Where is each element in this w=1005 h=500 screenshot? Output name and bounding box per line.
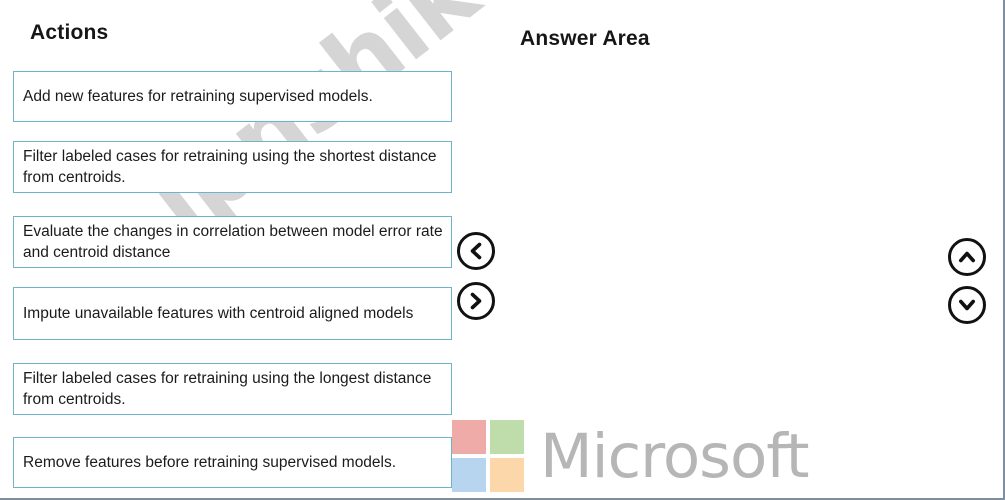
answer-area-dropzone[interactable] bbox=[500, 62, 930, 482]
chevron-left-icon bbox=[466, 241, 486, 261]
action-item[interactable]: Filter labeled cases for retraining usin… bbox=[13, 141, 452, 193]
tile-blue bbox=[452, 458, 486, 492]
chevron-right-icon bbox=[466, 291, 486, 311]
chevron-up-icon bbox=[957, 247, 977, 267]
action-item-label: Evaluate the changes in correlation betw… bbox=[23, 221, 443, 263]
action-item-label: Filter labeled cases for retraining usin… bbox=[23, 146, 443, 188]
action-item[interactable]: Impute unavailable features with centroi… bbox=[13, 287, 452, 340]
action-item-label: Filter labeled cases for retraining usin… bbox=[23, 368, 443, 410]
action-item[interactable]: Filter labeled cases for retraining usin… bbox=[13, 363, 452, 415]
action-item-label: Remove features before retraining superv… bbox=[23, 452, 396, 473]
actions-heading: Actions bbox=[30, 21, 108, 45]
chevron-down-icon bbox=[957, 295, 977, 315]
action-item-label: Impute unavailable features with centroi… bbox=[23, 303, 413, 324]
move-up-button[interactable] bbox=[948, 238, 986, 276]
tile-red bbox=[452, 420, 486, 454]
action-item[interactable]: Remove features before retraining superv… bbox=[13, 437, 452, 488]
action-item[interactable]: Add new features for retraining supervis… bbox=[13, 71, 452, 122]
action-item-label: Add new features for retraining supervis… bbox=[23, 86, 373, 107]
move-left-button[interactable] bbox=[457, 232, 495, 270]
answer-area-heading: Answer Area bbox=[520, 27, 650, 51]
action-item[interactable]: Evaluate the changes in correlation betw… bbox=[13, 216, 452, 268]
move-down-button[interactable] bbox=[948, 286, 986, 324]
exam-question-canvas: jpnshiken.com Actions Add new features f… bbox=[0, 0, 1005, 500]
move-right-button[interactable] bbox=[457, 282, 495, 320]
